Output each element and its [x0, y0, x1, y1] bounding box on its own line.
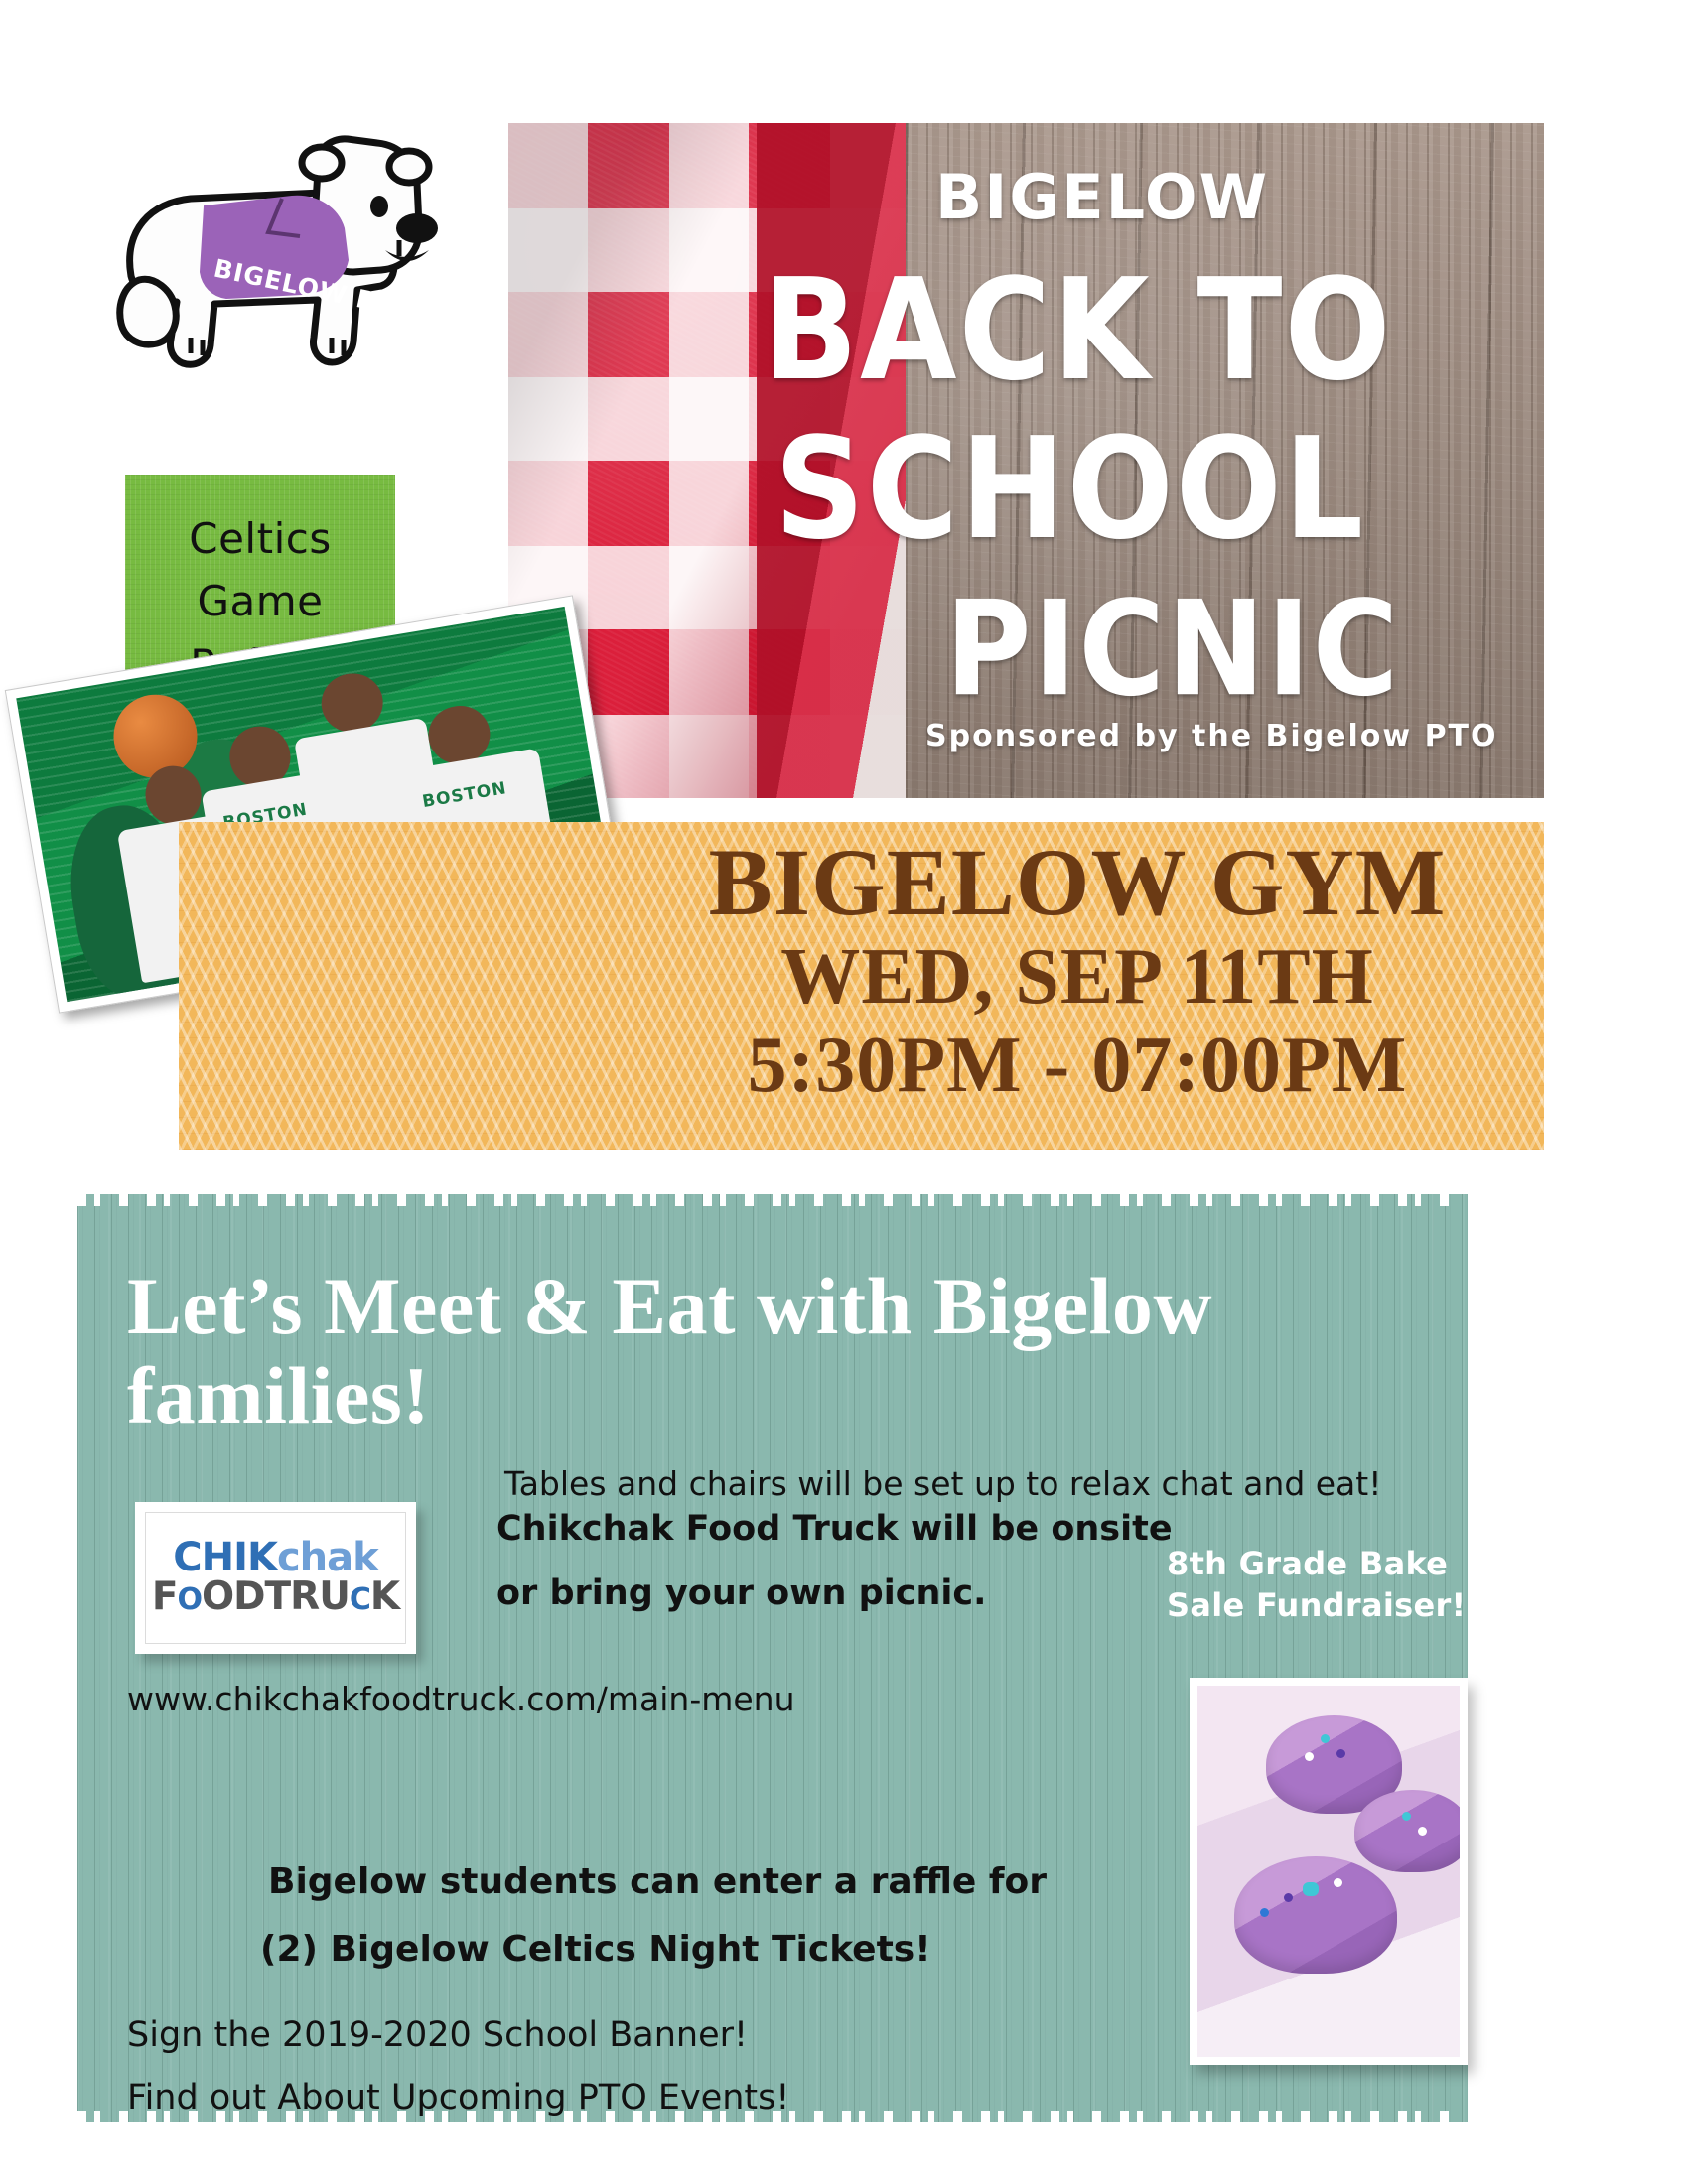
- raffle-box-line-2: Game: [197, 572, 323, 631]
- banner-title-line-2: SCHOOL: [774, 407, 1365, 571]
- chikchak-website-url[interactable]: www.chikchakfoodtruck.com/main-menu: [127, 1680, 795, 1718]
- pto-events-line: Find out About Upcoming PTO Events!: [127, 2078, 789, 2117]
- tables-chairs-note: Tables and chairs will be set up to rela…: [504, 1464, 1381, 1503]
- event-venue: BIGELOW GYM: [640, 832, 1514, 933]
- food-truck-line-2: or bring your own picnic.: [496, 1573, 986, 1613]
- cupcakes-photo: [1190, 1678, 1468, 2065]
- bake-sale-heading: 8th Grade Bake Sale Fundraiser!: [1167, 1544, 1494, 1626]
- chikchak-foodtruck-logo: CHIKchak FOODTRUCK: [135, 1502, 416, 1654]
- event-details-box: BIGELOW GYM WED, SEP 11TH 5:30PM - 07:00…: [179, 822, 1544, 1150]
- bigelow-pto-bulldog-logo: BIGELOW PTO: [87, 111, 445, 409]
- student-raffle-line-2: (2) Bigelow Celtics Night Tickets!: [260, 1929, 931, 1970]
- chikchak-logo-o: O: [178, 1582, 203, 1617]
- banner-sponsor-line: Sponsored by the Bigelow PTO: [925, 719, 1498, 753]
- food-truck-line-1: Chikchak Food Truck will be onsite: [496, 1509, 1173, 1549]
- chikchak-logo-c: C: [350, 1582, 370, 1617]
- flyer-page: BIGELOW PTO Celtics Game Raffle! BIGELOW…: [0, 0, 1688, 2184]
- bulldog-icon: BIGELOW PTO: [87, 111, 445, 409]
- banner-title-line-3: PICNIC: [945, 572, 1400, 726]
- banner-eyebrow: BIGELOW: [935, 161, 1269, 233]
- student-raffle-line-1: Bigelow students can enter a raffle for: [268, 1861, 1047, 1902]
- chikchak-logo-f: F: [152, 1574, 178, 1619]
- body-headline: Let’s Meet & Eat with Bigelow families!: [127, 1262, 1448, 1440]
- banner-title-line-1: BACK TO: [763, 248, 1393, 412]
- chikchak-logo-odtru: ODTRU: [202, 1574, 350, 1619]
- back-to-school-picnic-banner: BIGELOW BACK TO SCHOOL PICNIC Sponsored …: [508, 123, 1544, 798]
- chikchak-logo-k: K: [370, 1574, 399, 1619]
- cupcakes-photo-image: [1197, 1686, 1460, 2057]
- event-time: 5:30PM - 07:00PM: [640, 1022, 1514, 1111]
- event-date: WED, SEP 11TH: [640, 933, 1514, 1023]
- school-banner-line: Sign the 2019-2020 School Banner!: [127, 2015, 748, 2055]
- raffle-box-line-1: Celtics: [189, 509, 331, 569]
